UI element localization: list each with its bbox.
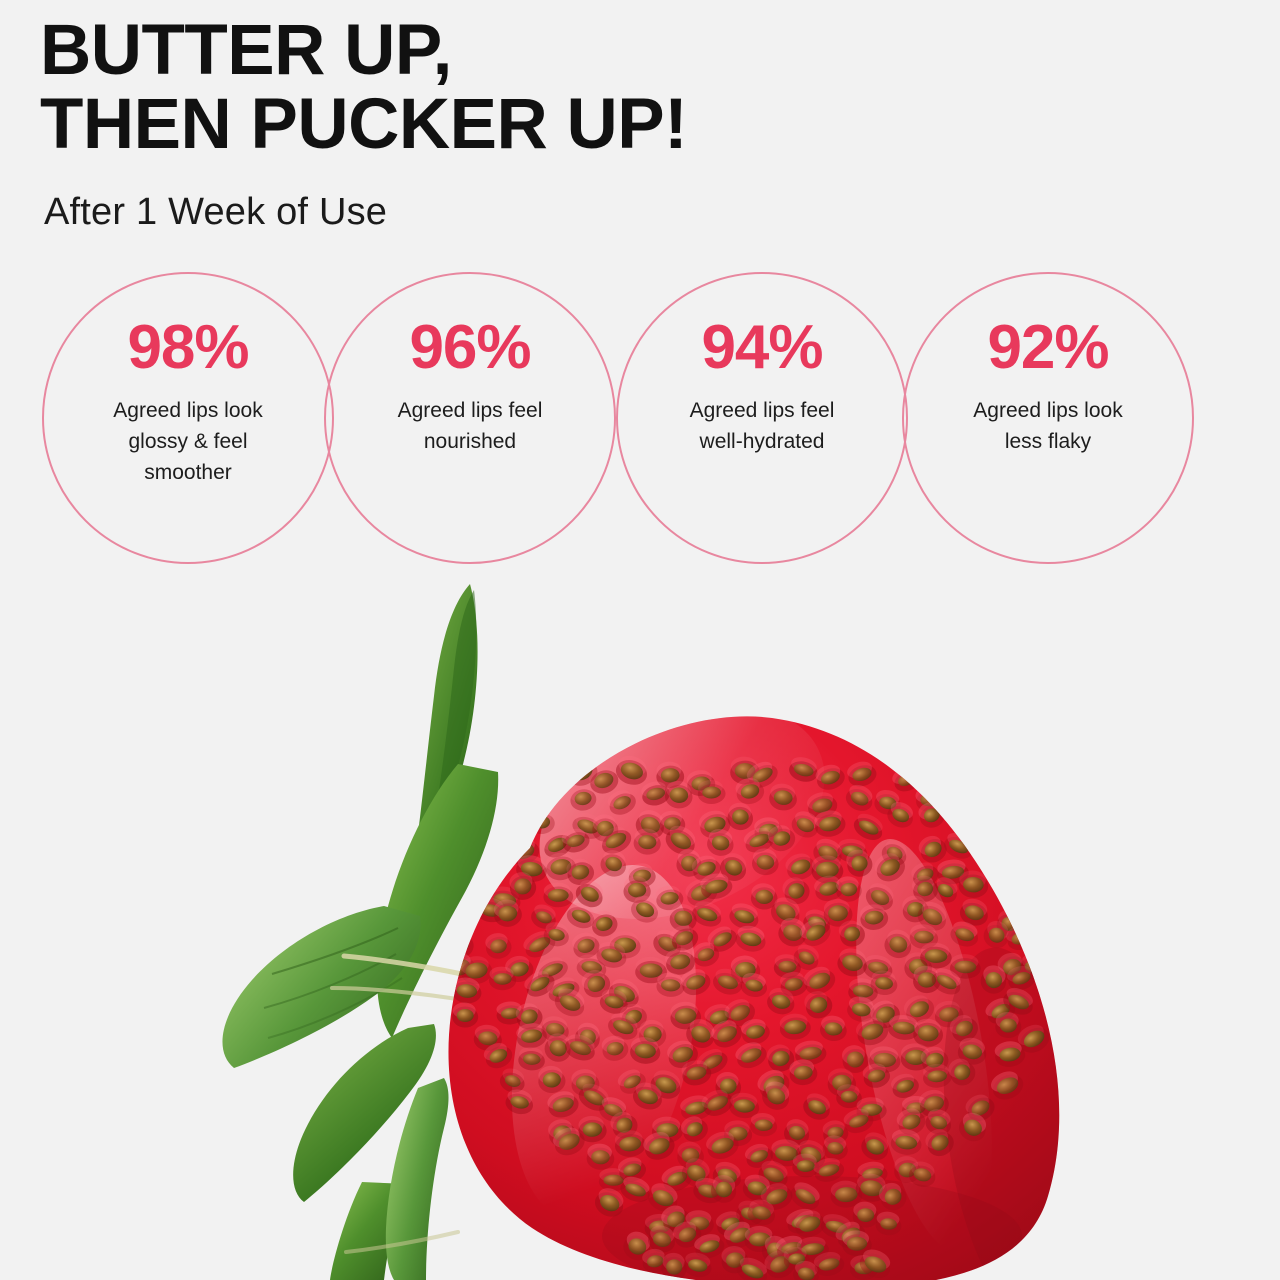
- strawberry-photo: [212, 576, 1072, 1280]
- strawberry-calyx: [222, 584, 498, 1280]
- page-title: BUTTER UP, THEN PUCKER UP!: [40, 14, 1220, 162]
- infographic-page: BUTTER UP, THEN PUCKER UP! After 1 Week …: [0, 0, 1280, 1280]
- stat-caption: Agreed lips look less flaky: [933, 395, 1163, 457]
- strawberry-body: [427, 663, 1072, 1280]
- stat-badge-2: 96% Agreed lips feel nourished: [324, 272, 616, 564]
- stat-percent: 96%: [409, 317, 530, 379]
- stat-percent: 94%: [701, 317, 822, 379]
- stat-badge-4: 92% Agreed lips look less flaky: [902, 272, 1194, 564]
- stat-percent: 98%: [127, 317, 248, 379]
- stat-badge-3: 94% Agreed lips feel well-hydrated: [616, 272, 908, 564]
- stat-badge-group: 98% Agreed lips look glossy & feel smoot…: [0, 272, 1280, 568]
- stat-badge-1: 98% Agreed lips look glossy & feel smoot…: [42, 272, 334, 564]
- strawberry-illustration: [212, 576, 1072, 1280]
- stat-caption: Agreed lips look glossy & feel smoother: [73, 395, 303, 488]
- page-subtitle: After 1 Week of Use: [44, 190, 387, 234]
- stat-caption: Agreed lips feel well-hydrated: [647, 395, 877, 457]
- stat-percent: 92%: [987, 317, 1108, 379]
- stat-caption: Agreed lips feel nourished: [355, 395, 585, 457]
